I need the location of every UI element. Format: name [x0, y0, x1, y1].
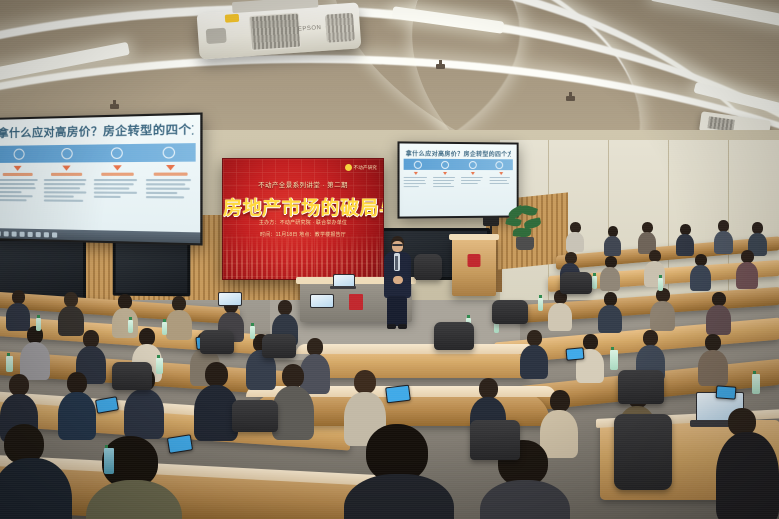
water-bottle	[128, 320, 133, 333]
audience-member	[58, 292, 84, 332]
marker-icon	[113, 165, 122, 170]
slide-column	[44, 165, 90, 204]
water-bottle	[104, 448, 114, 474]
desk-row	[300, 350, 530, 378]
chair[interactable]	[112, 362, 152, 390]
projector-brand-label: EPSON	[298, 25, 322, 33]
chair[interactable]	[618, 370, 664, 404]
person-icon	[14, 149, 25, 160]
marker-icon	[471, 172, 475, 175]
audience-member	[520, 330, 548, 376]
banner-title: 房地产市场的破局与重构	[223, 193, 383, 220]
banner-subtitle-2: 时间：11月18日 地点：教学楼报告厅	[233, 231, 373, 240]
gear-icon	[441, 160, 449, 168]
water-bottle	[610, 350, 618, 370]
slide-icon-bar	[0, 143, 196, 163]
slide-column	[0, 166, 40, 204]
event-banner: 不动产研究 不动产全景系列讲堂 · 第二期 房地产市场的破局与重构 主办方：不动…	[222, 158, 384, 280]
desk-emblem	[349, 294, 363, 310]
presenter-laptop[interactable]	[330, 274, 356, 290]
windows-taskbar[interactable]	[0, 228, 200, 243]
audience-member	[714, 220, 733, 252]
audience-member	[690, 254, 711, 288]
water-bottle	[162, 322, 167, 335]
chart-icon	[469, 161, 477, 169]
marker-icon	[443, 172, 447, 175]
audience-member	[566, 222, 584, 250]
banner-logo: 不动产研究	[345, 164, 378, 171]
logo-mark-icon	[345, 164, 352, 171]
smartphone[interactable]	[716, 385, 737, 399]
podium	[452, 238, 496, 296]
water-bottle	[658, 278, 663, 291]
slide-columns	[0, 165, 196, 205]
water-bottle	[6, 356, 13, 372]
slide-column	[489, 172, 513, 188]
marker-icon	[14, 166, 22, 171]
banner-skyline-graphic	[223, 233, 383, 279]
left-projection-screen: 拿什么应对高房价？房企转型的四个方向	[0, 112, 203, 245]
chair[interactable]	[492, 300, 528, 324]
audience-member	[604, 226, 621, 254]
audience-member	[166, 296, 192, 336]
chair[interactable]	[614, 414, 672, 490]
potted-plant	[506, 206, 544, 250]
lecture-hall-photo: EPSON 拿什么应对高房价？房企转型的四个方向	[0, 0, 779, 519]
projector-vent	[249, 13, 301, 51]
banner-top-line: 不动产全景系列讲堂 · 第二期	[223, 179, 383, 189]
water-bottle	[592, 276, 597, 289]
slide-title: 拿什么应对高房价？房企转型的四个方向	[0, 120, 193, 141]
person-icon	[414, 160, 422, 168]
marker-icon	[499, 172, 503, 175]
projector-mount	[232, 0, 319, 13]
banner-subtitle-1: 主办方：不动产研究院 · 联合举办单位	[233, 219, 373, 228]
smartphone[interactable]	[566, 347, 585, 361]
slide-title: 拿什么应对高房价？房企转型的四个方向	[406, 149, 511, 159]
slide-column	[433, 172, 457, 189]
stage-chair[interactable]	[414, 254, 442, 280]
tablet[interactable]	[218, 292, 240, 306]
marker-icon	[62, 166, 70, 171]
water-bottle	[156, 358, 163, 374]
chart-icon	[111, 147, 123, 159]
audience-member	[736, 250, 758, 286]
chair[interactable]	[470, 420, 520, 460]
smoke-detector-icon	[436, 64, 445, 69]
audience-member	[638, 222, 656, 252]
right-projection-screen: 拿什么应对高房价？房企转型的四个方向	[398, 141, 519, 218]
slide-icon-bar	[404, 159, 513, 170]
smoke-detector-icon	[110, 104, 119, 109]
slide-column	[146, 165, 196, 205]
projector-lens	[206, 28, 227, 44]
audience-member	[676, 224, 694, 254]
gear-icon	[61, 148, 72, 159]
tablet[interactable]	[310, 294, 332, 308]
projector-vent	[325, 13, 355, 43]
chair[interactable]	[200, 330, 234, 354]
audience-member	[548, 290, 572, 328]
slide-content: 拿什么应对高房价？房企转型的四个方向	[400, 143, 517, 216]
glasses-icon	[392, 244, 403, 246]
water-bottle	[36, 318, 41, 331]
audience-member	[598, 292, 622, 330]
audience-member	[716, 408, 779, 519]
audience-member	[6, 290, 30, 328]
water-bottle	[538, 298, 543, 311]
podium-emblem	[468, 254, 481, 267]
chair[interactable]	[262, 334, 296, 358]
audience-member	[600, 256, 620, 288]
marker-icon	[166, 165, 175, 170]
slide-column	[94, 165, 142, 204]
audience-member	[698, 334, 728, 382]
slide-column	[404, 172, 429, 189]
plant-pot	[516, 237, 534, 250]
smartphone[interactable]	[385, 385, 411, 404]
audience-member	[706, 292, 731, 332]
audience-member	[0, 424, 72, 519]
projector-indicator	[225, 14, 240, 23]
water-bottle	[250, 326, 255, 339]
slide-column	[461, 172, 485, 189]
marker-icon	[414, 172, 418, 175]
audience-member	[344, 424, 454, 519]
slide-columns	[404, 172, 513, 189]
shield-icon	[496, 161, 504, 169]
banner-logo-text: 不动产研究	[354, 165, 378, 171]
smoke-detector-icon	[566, 96, 575, 101]
slide-content: 拿什么应对高房价？房企转型的四个方向	[0, 115, 200, 244]
speaker	[384, 236, 410, 332]
podium-top	[449, 234, 499, 240]
shield-icon	[163, 147, 175, 159]
water-bottle	[752, 374, 760, 394]
audience-member	[20, 326, 50, 376]
wall-monitor	[113, 238, 191, 297]
chair[interactable]	[434, 322, 474, 350]
chair[interactable]	[560, 272, 592, 294]
audience-member	[650, 288, 675, 328]
chair[interactable]	[232, 400, 278, 432]
audience-member	[272, 364, 314, 436]
